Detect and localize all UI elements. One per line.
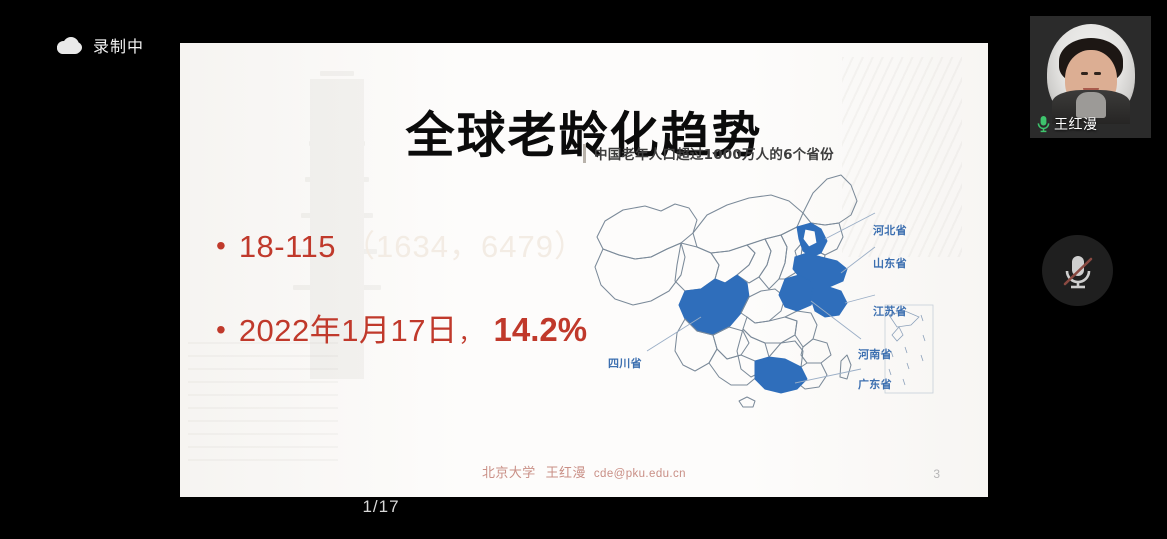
bullet-list: • 18-115 （1634，6479） • 2022年1月17日 ， 14.2…: [212, 221, 612, 389]
map-caption: 中国老年人口超过1000万人的6个省份: [583, 143, 834, 163]
highlighted-provinces: [755, 223, 847, 393]
list-item: • 2022年1月17日 ， 14.2%: [212, 305, 612, 350]
avatar: [1047, 24, 1135, 124]
footer-org: 北京大学: [482, 465, 536, 480]
province-label-jiangsu: 江苏省: [873, 303, 907, 319]
bullet-marker: •: [216, 316, 226, 344]
slide-number: 3: [933, 467, 940, 481]
bullet-primary-text: 2022年1月17日: [239, 305, 458, 350]
province-label-shandong: 山东省: [873, 255, 907, 271]
page-indicator: 1/17: [0, 497, 1167, 517]
list-item: • 18-115 （1634，6479）: [212, 221, 612, 266]
participant-name: 王红漫: [1054, 114, 1098, 134]
bullet-comma: ，: [459, 314, 482, 348]
meeting-screen-share-view: 录制中 全球老龄化趋势 • 18-115 （1634，6479） • 2: [0, 0, 1167, 539]
caption-accent-bar: [583, 144, 586, 163]
footer-email: cde@pku.edu.cn: [594, 468, 686, 480]
slide-footer: 北京大学 王红漫 cde@pku.edu.cn: [180, 462, 988, 481]
footer-presenter: 王红漫: [546, 465, 586, 480]
bullet-primary-text: 18-115: [239, 229, 336, 265]
bullet-faded-text: （1634，6479）: [344, 221, 586, 266]
recording-indicator: 录制中: [56, 33, 144, 57]
china-map-svg: [589, 165, 959, 410]
avatar-eye-right: [1081, 72, 1088, 75]
bullet-marker: •: [216, 232, 226, 260]
province-label-henan: 河南省: [858, 346, 892, 362]
mute-microphone-button[interactable]: [1042, 235, 1113, 306]
microphone-muted-icon: [1061, 251, 1095, 291]
microphone-icon: [1036, 115, 1051, 133]
cloud-icon: [56, 37, 82, 54]
province-label-hebei: 河北省: [873, 222, 907, 238]
china-map-figure: 中国老年人口超过1000万人的6个省份: [575, 143, 965, 413]
bullet-highlight-value: 14.2%: [494, 311, 588, 349]
participant-video-tile[interactable]: 王红漫: [1030, 16, 1151, 138]
province-label-guangdong: 广东省: [858, 376, 892, 392]
avatar-eye-left: [1094, 72, 1101, 75]
province-label-sichuan: 四川省: [608, 355, 642, 371]
participant-name-badge: 王红漫: [1036, 114, 1098, 134]
map-caption-text: 中国老年人口超过1000万人的6个省份: [594, 143, 834, 163]
recording-label: 录制中: [93, 33, 144, 57]
page-indicator-text: 1/17: [362, 497, 399, 517]
shared-slide[interactable]: 全球老龄化趋势 • 18-115 （1634，6479） • 2022年1月17…: [180, 43, 988, 497]
